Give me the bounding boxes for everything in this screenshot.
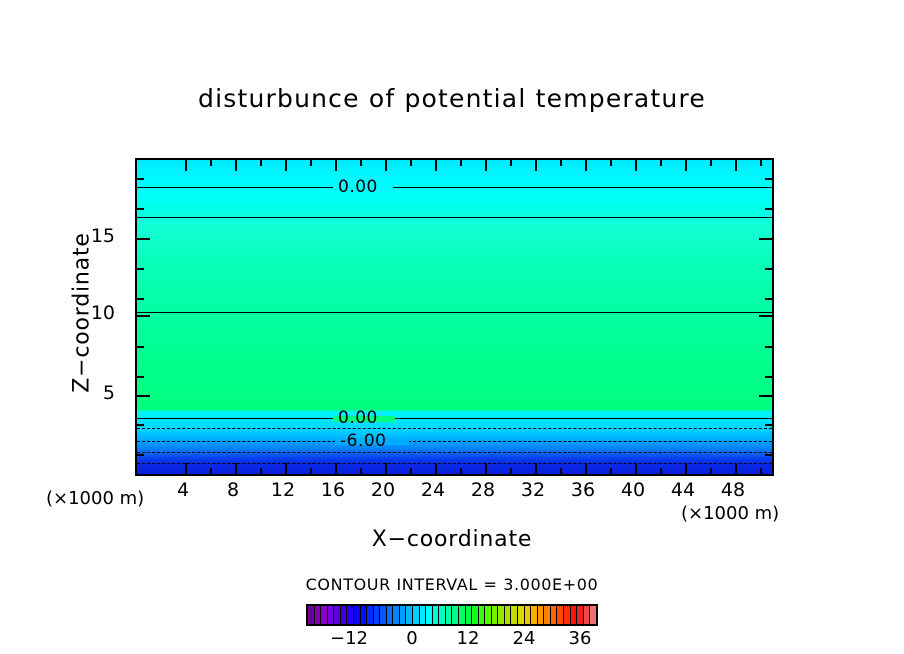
ytick-minor [137,376,144,378]
contour-label-zero-lower: 0.00 [335,408,381,428]
xtick-label-32: 32 [511,479,555,501]
ytick-major [137,395,150,397]
xtick-top-minor [410,160,412,166]
page-title: disturbunce of potential temperature [0,84,904,113]
colorbar-tick-labels: −12 0 12 24 36 [306,628,598,652]
xtick-minor [760,468,762,474]
y-axis-title: Z−coordinate [70,213,95,413]
contour-line-neg12-dashed [137,463,772,464]
colorbar-label-neg12: −12 [324,628,374,649]
contour-line-neg6-dashed [137,441,772,442]
ytick-minor [137,424,144,426]
ytick-right-minor [765,424,772,426]
xtick-major [385,463,387,474]
xtick-top-minor [310,160,312,166]
xtick-top-major [685,160,687,171]
contour-line-0-upper [137,187,772,188]
ytick-minor [137,346,144,348]
colorbar-label-12: 12 [443,628,493,649]
ytick-minor [137,298,144,300]
xtick-top-minor [760,160,762,166]
xtick-minor [260,468,262,474]
ytick-major [137,315,150,317]
xtick-label-24: 24 [411,479,455,501]
xtick-top-minor [210,160,212,166]
ytick-minor [137,208,144,210]
ytick-right-minor [765,178,772,180]
colorbar-band [590,606,596,624]
xtick-top-major [635,160,637,171]
contour-line-upper-thin [137,217,772,218]
ytick-right-minor [765,376,772,378]
contour-line-mid-thin [137,312,772,313]
xtick-top-minor [460,160,462,166]
contour-fill-field [137,160,772,474]
xtick-minor [610,468,612,474]
ytick-right-major [759,395,772,397]
ytick-right-minor [765,346,772,348]
xtick-major [735,463,737,474]
xtick-minor [310,468,312,474]
contour-interval-caption: CONTOUR INTERVAL = 3.000E+00 [0,575,904,594]
xtick-minor [510,468,512,474]
colorbar-label-36: 36 [555,628,605,649]
x-axis-unit-note: (×1000 m) [681,503,779,524]
xtick-minor [710,468,712,474]
contour-label-neg6: -6.00 [337,431,390,451]
xtick-label-48: 48 [711,479,755,501]
xtick-minor [210,468,212,474]
xtick-top-minor [360,160,362,166]
colorbar [306,604,598,626]
xtick-minor [460,468,462,474]
xtick-top-major [235,160,237,171]
xtick-minor [410,468,412,474]
colorbar-label-24: 24 [499,628,549,649]
xtick-top-major [335,160,337,171]
xtick-label-16: 16 [311,479,355,501]
ytick-minor [137,178,144,180]
xtick-label-44: 44 [661,479,705,501]
xtick-major [285,463,287,474]
ytick-right-minor [765,454,772,456]
xtick-label-8: 8 [211,479,255,501]
xtick-major [635,463,637,474]
xtick-label-28: 28 [461,479,505,501]
xtick-label-20: 20 [361,479,405,501]
xtick-major [435,463,437,474]
xtick-major [485,463,487,474]
xtick-top-major [285,160,287,171]
xtick-label-40: 40 [611,479,655,501]
contour-line-neg9-dashed [137,452,772,453]
xtick-top-major [535,160,537,171]
xtick-label-4: 4 [161,479,205,501]
ytick-right-major [759,238,772,240]
xtick-top-minor [710,160,712,166]
xtick-major [185,463,187,474]
xtick-top-minor [510,160,512,166]
ytick-major [137,238,150,240]
x-axis-title: X−coordinate [0,527,904,552]
colorbar-label-0: 0 [387,628,437,649]
xtick-top-major [585,160,587,171]
ytick-right-major [759,315,772,317]
ytick-right-minor [765,268,772,270]
xtick-label-12: 12 [261,479,305,501]
xtick-major [335,463,337,474]
xtick-top-major [485,160,487,171]
ytick-minor [137,454,144,456]
contour-line-0-lower [137,418,772,419]
ytick-right-minor [765,208,772,210]
contour-plot-area: 0.00 0.00 -6.00 [135,158,774,476]
xtick-label-36: 36 [561,479,605,501]
xtick-top-minor [610,160,612,166]
xtick-top-major [385,160,387,171]
contour-line-neg3-dashed [137,428,772,429]
xtick-major [585,463,587,474]
ytick-minor [137,268,144,270]
xtick-top-major [185,160,187,171]
xtick-minor [360,468,362,474]
xtick-minor [660,468,662,474]
xtick-top-minor [560,160,562,166]
y-axis-unit-note: (×1000 m) [46,488,144,509]
contour-label-zero-upper: 0.00 [335,177,381,197]
xtick-minor [560,468,562,474]
ytick-right-minor [765,298,772,300]
xtick-top-major [435,160,437,171]
xtick-major [535,463,537,474]
xtick-major [685,463,687,474]
xtick-major [235,463,237,474]
xtick-top-minor [660,160,662,166]
xtick-top-minor [260,160,262,166]
xtick-top-major [735,160,737,171]
